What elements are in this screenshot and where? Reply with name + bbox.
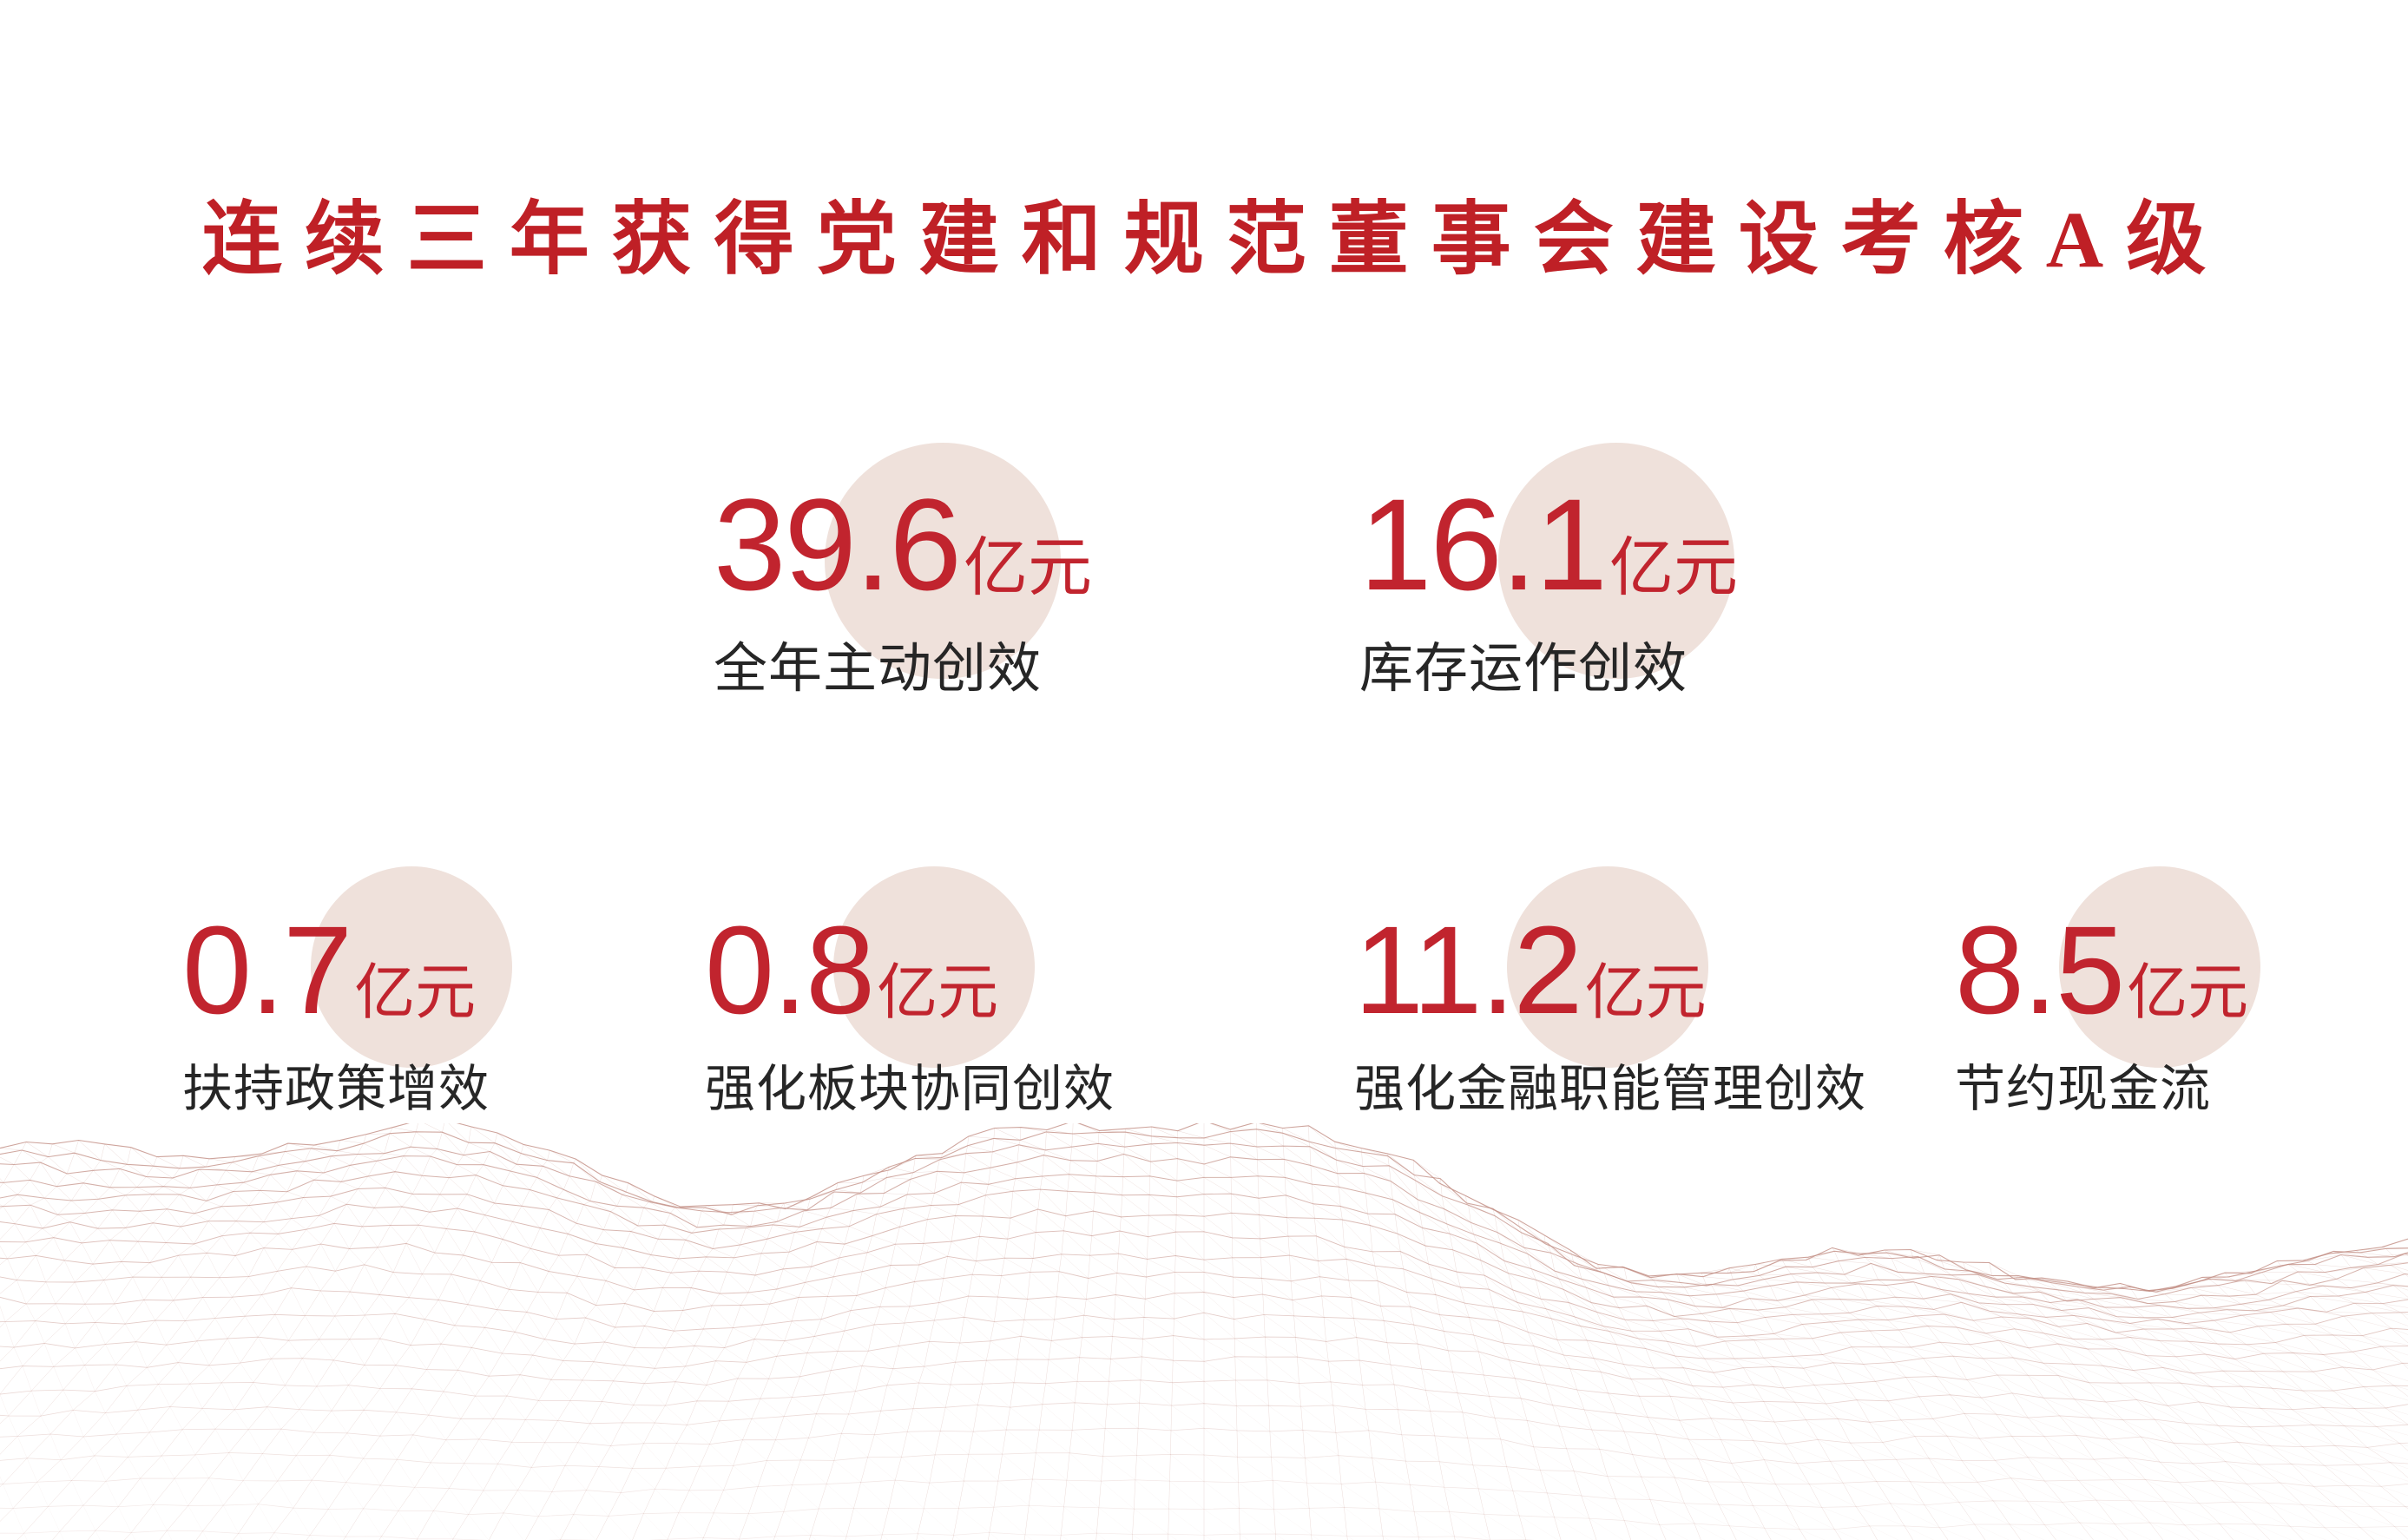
stat-value: 0.7 [182,908,351,1033]
stat-value: 0.8 [705,908,873,1033]
wireframe-terrain-decoration [0,1123,2408,1540]
stat-label: 强化金融职能管理创效 [1354,1064,1866,1115]
stat-unit: 亿元 [354,962,476,1023]
stat-label: 库存运作创效 [1359,642,1738,696]
stat-item-2: 0.7 亿元 扶持政策增效 [182,908,490,1115]
page-title: 连续三年获得党建和规范董事会建设考核A级 [0,198,2408,282]
stat-label: 节约现金流 [1955,1064,2248,1115]
slide-root: 连续三年获得党建和规范董事会建设考核A级 39.6 亿元 全年主动创效 16.1… [0,0,2408,1540]
stat-value-row: 39.6 亿元 [714,479,1092,609]
stat-unit: 亿元 [964,536,1092,600]
stat-value: 39.6 [714,479,960,609]
stat-value-row: 0.8 亿元 [705,908,1115,1033]
stat-unit: 亿元 [877,962,998,1023]
stat-item-0: 39.6 亿元 全年主动创效 [714,479,1092,696]
stat-unit: 亿元 [1609,536,1738,600]
stat-item-4: 11.2 亿元 强化金融职能管理创效 [1354,908,1866,1115]
stat-value-row: 11.2 亿元 [1354,908,1866,1033]
stat-label: 强化板块协同创效 [705,1064,1115,1115]
stat-label: 扶持政策增效 [182,1064,490,1115]
stat-unit: 亿元 [1585,962,1707,1023]
stat-value-row: 0.7 亿元 [182,908,490,1033]
stat-value: 8.5 [1955,908,2123,1033]
stat-value-row: 16.1 亿元 [1359,479,1738,609]
stat-value-row: 8.5 亿元 [1955,908,2248,1033]
stat-item-5: 8.5 亿元 节约现金流 [1955,908,2248,1115]
stat-label: 全年主动创效 [714,642,1092,696]
stat-value: 11.2 [1354,908,1582,1033]
stat-item-3: 0.8 亿元 强化板块协同创效 [705,908,1115,1115]
stat-value: 16.1 [1359,479,1606,609]
stat-item-1: 16.1 亿元 库存运作创效 [1359,479,1738,696]
stat-unit: 亿元 [2127,962,2248,1023]
